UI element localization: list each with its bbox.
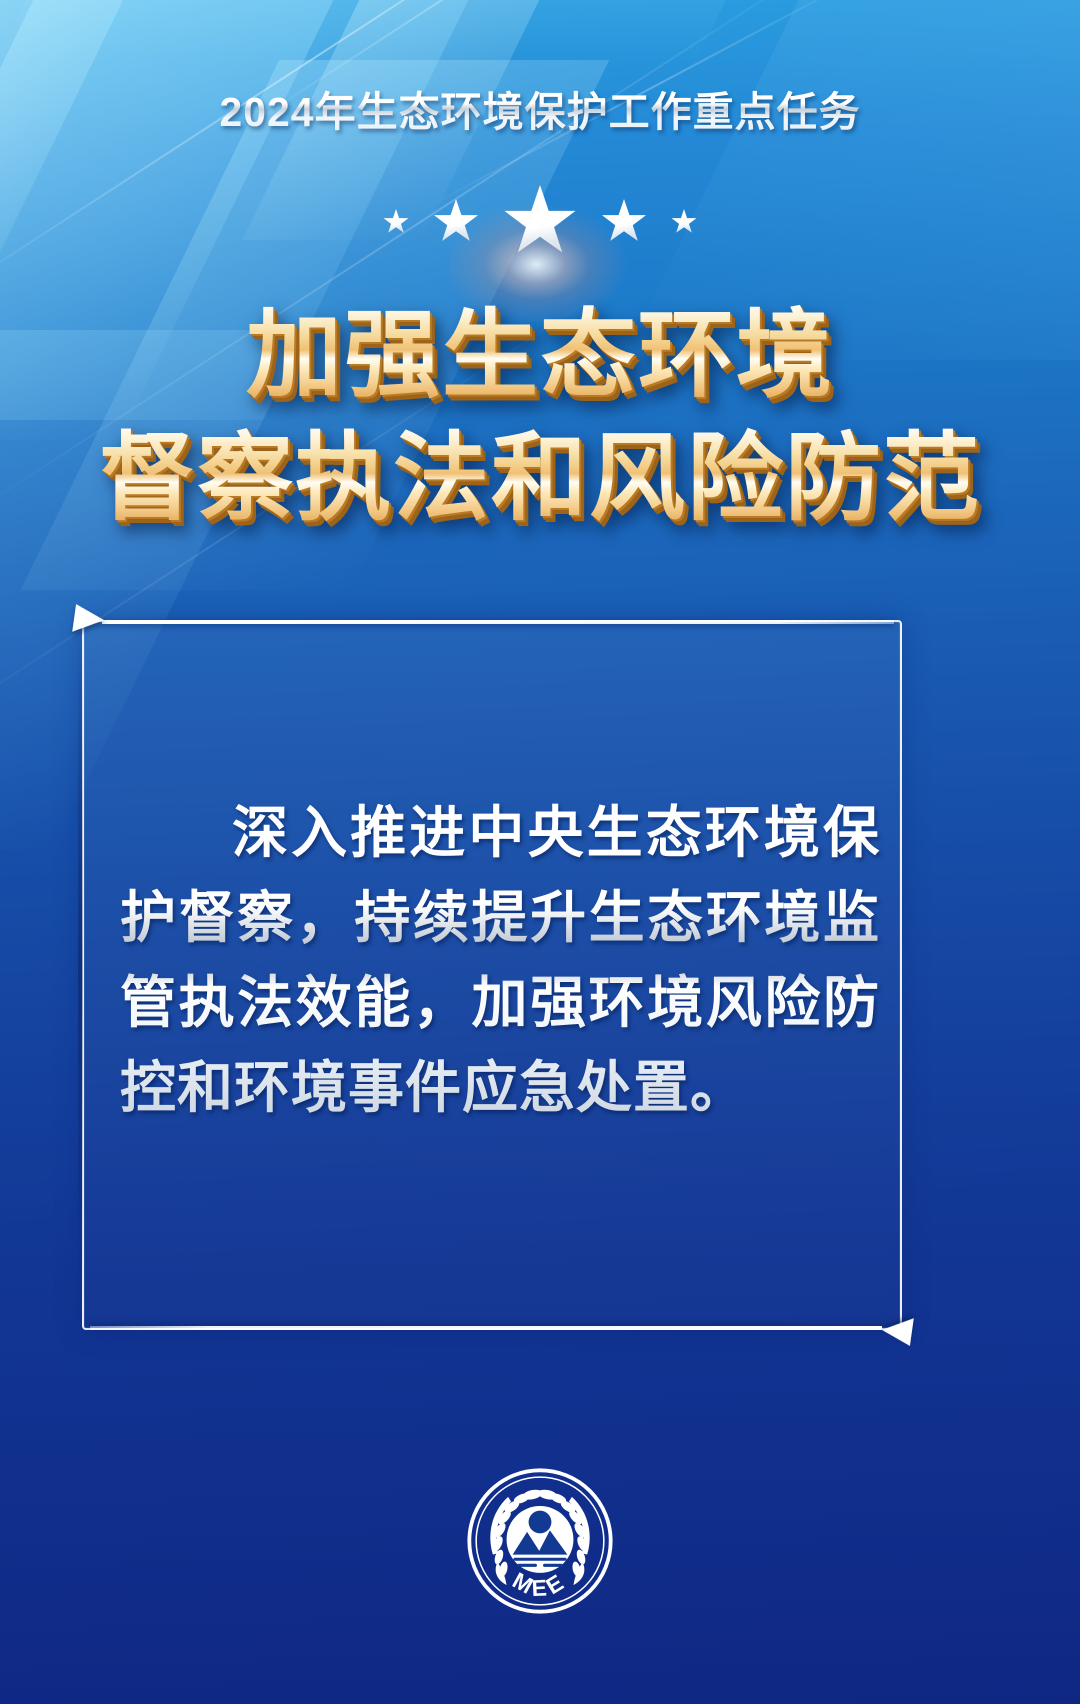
- bg-polygon-5: [0, 0, 823, 60]
- star-icon: [503, 185, 577, 259]
- poster-header-title: 2024年生态环境保护工作重点任务: [0, 78, 1080, 138]
- mee-emblem-icon: MEE: [464, 1465, 616, 1617]
- poster-root: 2024年生态环境保护工作重点任务 加强生态环境 督察执法和风险防范 深入推进中…: [0, 0, 1080, 1704]
- main-title-line-1: 加强生态环境: [0, 300, 1080, 411]
- star-icon: [433, 199, 479, 245]
- star-icon: [671, 209, 697, 235]
- main-title-line-2: 督察执法和风险防范: [0, 423, 1080, 534]
- frame-corner-top-left-icon: [72, 604, 106, 636]
- main-title: 加强生态环境 督察执法和风险防范: [0, 300, 1080, 535]
- content-body: 深入推进中央生态环境保护督察，持续提升生态环境监管执法效能，加强环境风险防控和环…: [120, 790, 880, 1130]
- frame-corner-bottom-right-icon: [880, 1314, 914, 1346]
- frame-left-shadow: [78, 632, 83, 1310]
- star-decoration-row: [0, 182, 1080, 262]
- footer-logo: MEE: [0, 1465, 1080, 1617]
- content-paragraph: 深入推进中央生态环境保护督察，持续提升生态环境监管执法效能，加强环境风险防控和环…: [120, 790, 880, 1130]
- star-icon: [383, 209, 409, 235]
- star-icon: [601, 199, 647, 245]
